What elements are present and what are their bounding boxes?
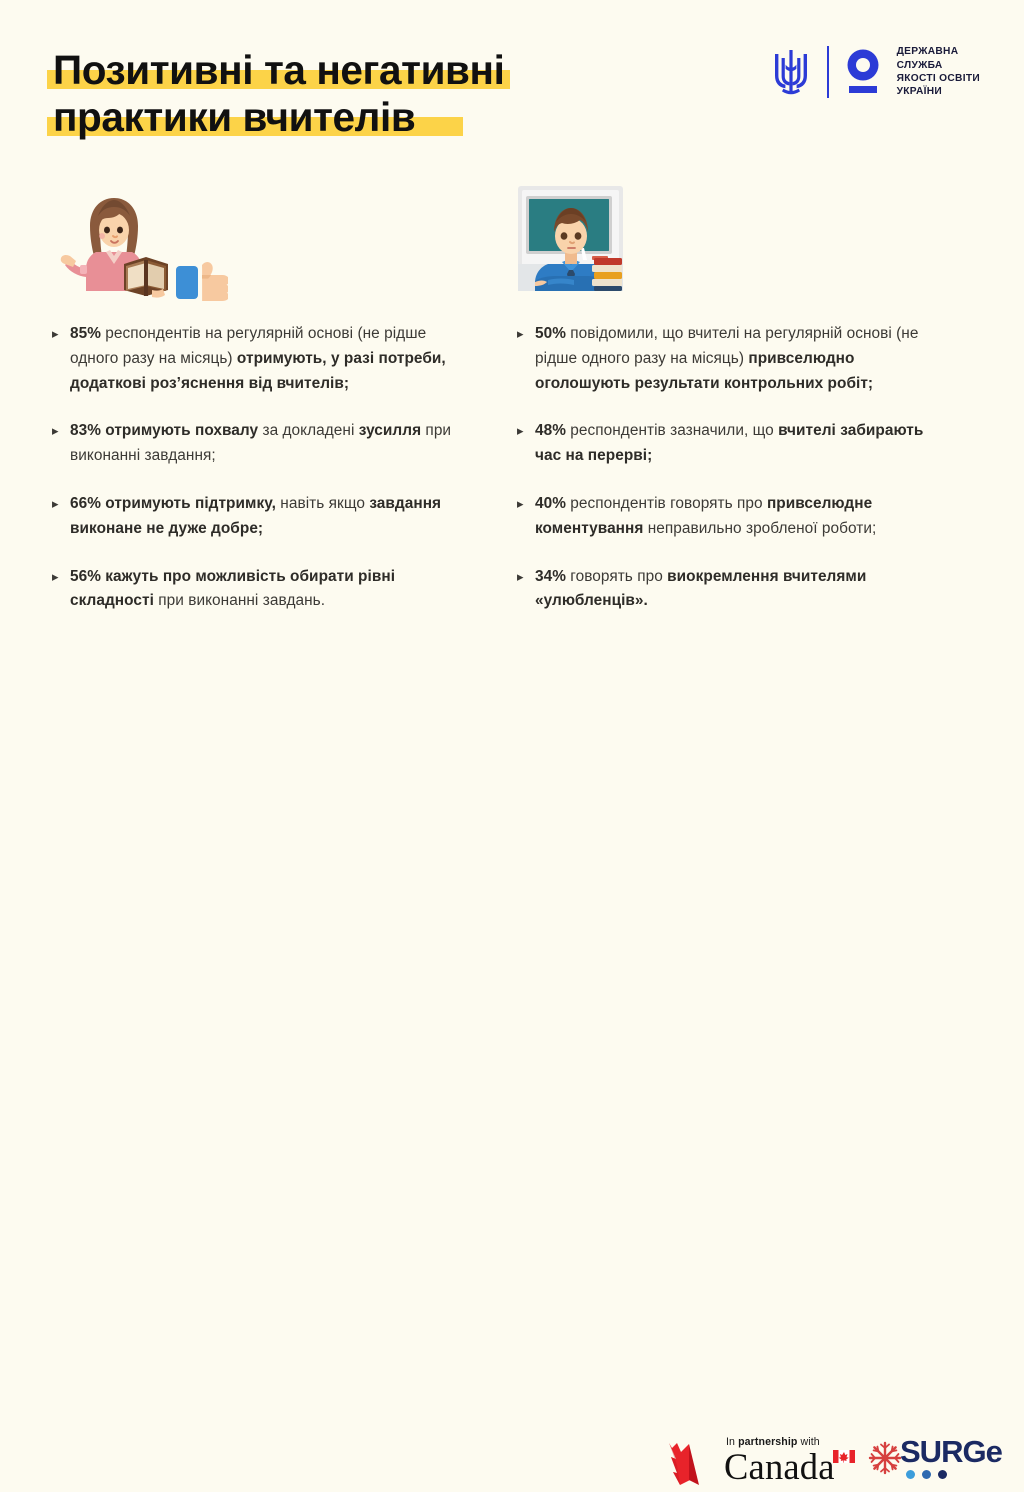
list-item: ▸ 50% повідомили, що вчителі на регулярн… [517,322,952,396]
logo-text-line-3: ЯКОСТІ ОСВІТИ [897,72,980,85]
surge-dot-1 [906,1470,915,1479]
list-item: ▸ 48% респондентів зазначили, що вчителі… [517,419,952,469]
quality-service-q-icon [843,48,883,96]
bullet-marker-icon: ▸ [52,565,59,590]
list-item-text: 85% респондентів на регулярній основі (н… [70,325,446,392]
footer: In partnership with Canada [0,707,1024,807]
list-item-text: 56% кажуть про можливість обирати рівні … [70,568,395,610]
list-item: ▸ 40% респондентів говорять про привселю… [517,492,952,542]
list-item-text: 48% респондентів зазначили, що вчителі з… [535,422,923,464]
organization-logo-text: ДЕРЖАВНА СЛУЖБА ЯКОСТІ ОСВІТИ УКРАЇНИ [897,45,980,99]
list-item-text: 50% повідомили, що вчителі на регулярній… [535,325,918,392]
logo-divider [827,46,829,98]
page-title-line-2: практики вчителів [53,94,415,141]
header: Позитивні та негативні практики вчителів [0,0,1024,170]
page-title-line-1-text: Позитивні та негативні [53,47,504,93]
list-item: ▸ 34% говорять про виокремлення вчителям… [517,565,952,615]
female-teacher-with-book-icon [58,186,228,306]
negative-practices-column: ▸ 50% повідомили, що вчителі на регулярн… [517,322,952,614]
ukraine-trident-icon [769,44,813,100]
list-item-text: 40% респондентів говорять про привселюдн… [535,495,876,537]
surge-wordmark: SURGe [900,1434,1002,1469]
canada-flag-icon [833,1450,855,1463]
positive-practices-column: ▸ 85% респондентів на регулярній основі … [52,322,477,614]
page-title: Позитивні та негативні практики вчителів [53,47,504,141]
surge-dots [906,1470,1002,1479]
list-item: ▸ 56% кажуть про можливість обирати рівн… [52,565,477,615]
bullet-marker-icon: ▸ [52,492,59,517]
logo-text-line-4: УКРАЇНИ [897,85,980,98]
illustration-row [0,186,1024,301]
page-title-line-2-text: практики вчителів [53,94,415,140]
surge-dot-3 [938,1470,947,1479]
infographic-page: { "page": { "background_color": "#fdfbf0… [0,0,1024,807]
surge-dot-2 [922,1470,931,1479]
list-item: ▸ 66% отримують підтримку, навіть якщо з… [52,492,477,542]
canada-wordmark: Canada [724,1449,835,1485]
bullet-marker-icon: ▸ [517,492,524,517]
bullet-marker-icon: ▸ [52,322,59,347]
list-item-text: 83% отримують похвалу за докладені зусил… [70,422,451,464]
list-item-text: 34% говорять про виокремлення вчителями … [535,568,866,610]
canada-partnership-logo: In partnership with Canada [663,1429,855,1487]
bullet-marker-icon: ▸ [517,322,524,347]
canada-maple-leaf-icon [663,1429,715,1487]
organization-logo: ДЕРЖАВНА СЛУЖБА ЯКОСТІ ОСВІТИ УКРАЇНИ [769,44,980,100]
logo-text-line-2: СЛУЖБА [897,59,980,72]
list-item: ▸ 83% отримують похвалу за докладені зус… [52,419,477,469]
partnership-label: In partnership with [726,1436,855,1448]
page-title-line-1: Позитивні та негативні [53,47,504,94]
male-teacher-at-chalkboard-icon [518,186,693,306]
surge-snowflake-icon [866,1439,904,1477]
list-item: ▸ 85% респондентів на регулярній основі … [52,322,477,396]
bullet-marker-icon: ▸ [52,419,59,444]
surge-logo: SURGe [866,1436,1002,1479]
bullet-marker-icon: ▸ [517,565,524,590]
bullet-marker-icon: ▸ [517,419,524,444]
list-item-text: 66% отримують підтримку, навіть якщо зав… [70,495,441,537]
logo-text-line-1: ДЕРЖАВНА [897,45,980,58]
